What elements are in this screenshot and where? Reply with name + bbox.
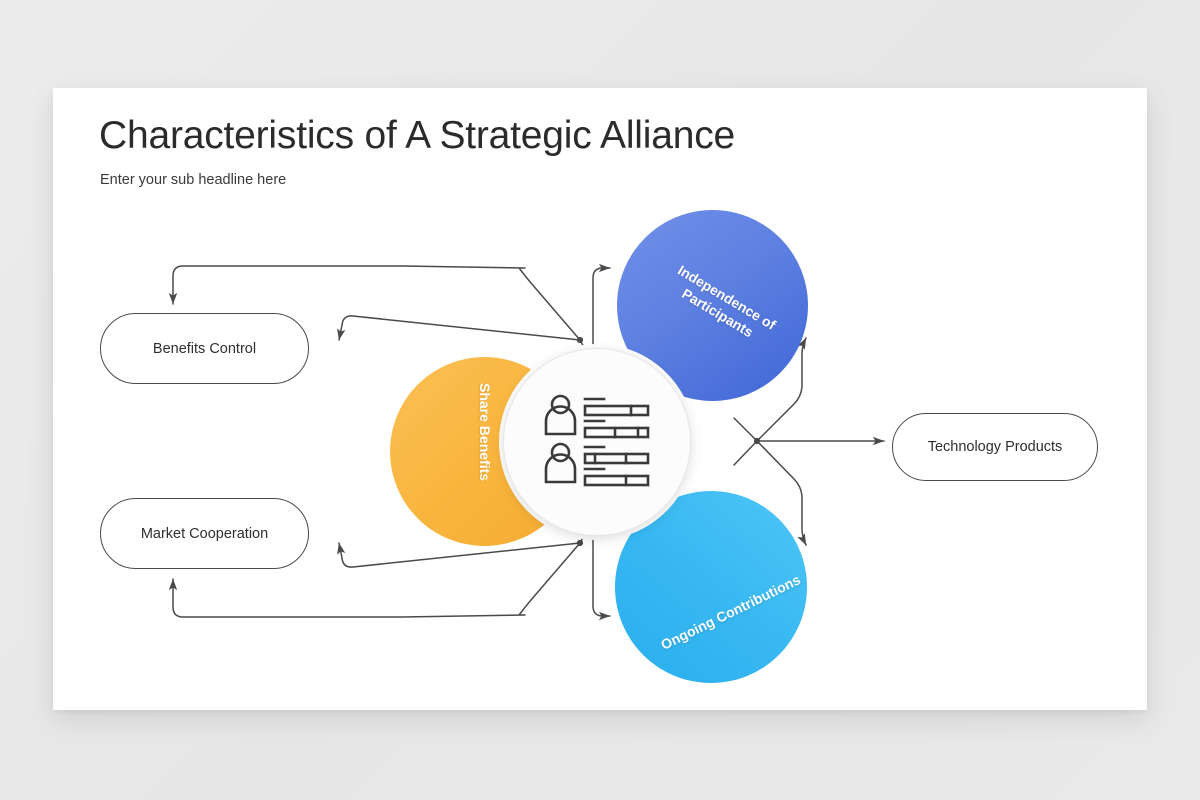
connector-node-bottom bbox=[577, 540, 583, 546]
pill-technology-products[interactable]: Technology Products bbox=[892, 413, 1098, 481]
connector-hub-to-orange-top bbox=[339, 316, 580, 340]
petal-label-ongoing-contributions: Ongoing Contributions bbox=[617, 492, 845, 735]
connector-hub-to-blue-petal bbox=[580, 268, 610, 354]
slide-card: Characteristics of A Strategic Alliance … bbox=[53, 88, 1147, 710]
connector-right-chevron-lower bbox=[734, 441, 757, 465]
pill-label-market-cooperation: Market Cooperation bbox=[141, 526, 268, 542]
connector-node-top bbox=[577, 337, 583, 343]
pill-benefits-control[interactable]: Benefits Control bbox=[100, 313, 309, 384]
pill-market-cooperation[interactable]: Market Cooperation bbox=[100, 498, 309, 569]
center-hub[interactable] bbox=[503, 348, 691, 536]
pill-label-benefits-control: Benefits Control bbox=[153, 341, 256, 357]
user-list-icon bbox=[543, 394, 651, 490]
strategic-alliance-diagram: Share Benefits Independence of Participa… bbox=[53, 88, 1147, 710]
connector-hub-to-cyan-petal bbox=[580, 529, 610, 616]
connector-node-right bbox=[754, 438, 760, 444]
connector-right-chevron-upper bbox=[734, 418, 757, 441]
pill-label-technology-products: Technology Products bbox=[928, 439, 1063, 455]
slide-canvas: Characteristics of A Strategic Alliance … bbox=[0, 0, 1200, 800]
connector-hub-to-orange-bottom bbox=[339, 543, 580, 567]
